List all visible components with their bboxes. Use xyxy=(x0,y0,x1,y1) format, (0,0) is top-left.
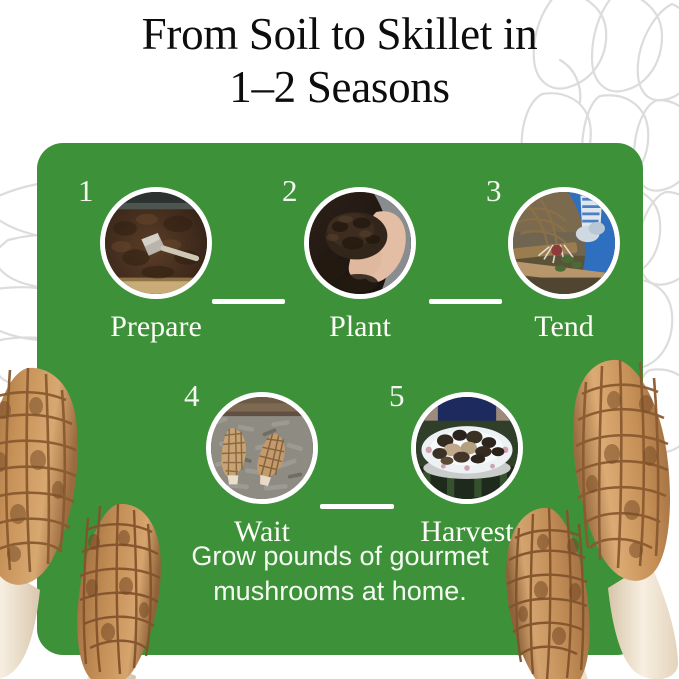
title-line-1: From Soil to Skillet in xyxy=(0,8,679,61)
infographic-poster: From Soil to Skillet in 1–2 Seasons 1 xyxy=(0,0,679,679)
step-4-wait[interactable]: 4 xyxy=(187,392,337,549)
tagline: Grow pounds of gourmet mushrooms at home… xyxy=(37,539,643,609)
step-1-prepare[interactable]: 1 xyxy=(81,187,231,344)
step-1-number: 1 xyxy=(78,175,94,206)
step-3-tend[interactable]: 3 xyxy=(489,187,639,344)
title-line-2: 1–2 Seasons xyxy=(0,61,679,114)
step-3-photo xyxy=(508,187,620,299)
poster-title: From Soil to Skillet in 1–2 Seasons xyxy=(0,8,679,114)
step-3-number: 3 xyxy=(486,175,502,206)
step-3-label: Tend xyxy=(489,310,639,344)
step-2-plant[interactable]: 2 xyxy=(285,187,435,344)
step-1-label: Prepare xyxy=(81,310,231,344)
step-2-label: Plant xyxy=(285,310,435,344)
step-2-photo xyxy=(304,187,416,299)
step-1-photo xyxy=(100,187,212,299)
step-5-number: 5 xyxy=(389,380,405,411)
steps-container: 1 xyxy=(37,143,643,655)
step-4-number: 4 xyxy=(184,380,200,411)
step-2-number: 2 xyxy=(282,175,298,206)
tagline-line-1: Grow pounds of gourmet xyxy=(37,539,643,574)
step-5-harvest[interactable]: 5 xyxy=(392,392,542,549)
step-5-photo xyxy=(411,392,523,504)
step-4-photo xyxy=(206,392,318,504)
tagline-line-2: mushrooms at home. xyxy=(37,574,643,609)
